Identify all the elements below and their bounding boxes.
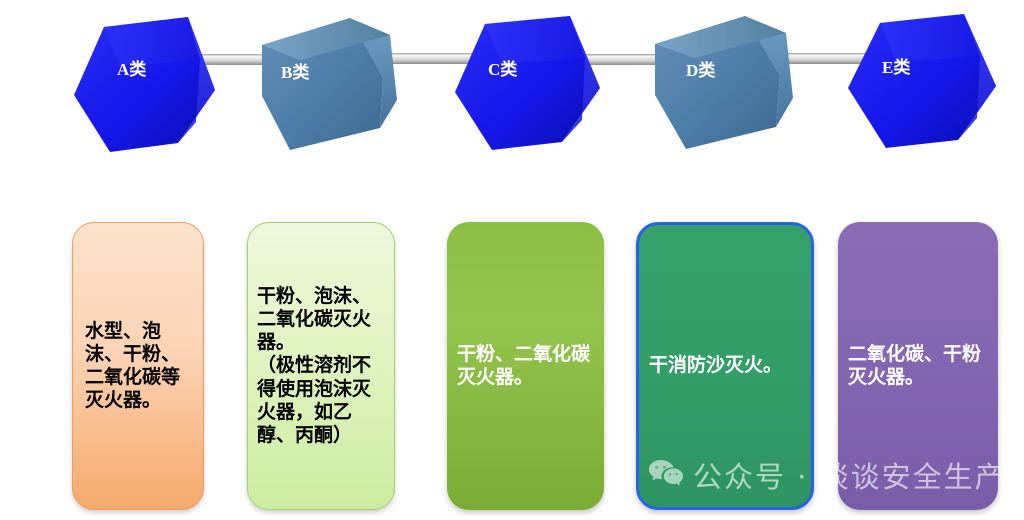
cube-d-label: D类 — [686, 60, 716, 80]
cube-b-label: B类 — [281, 62, 310, 82]
extinguisher-card-b: 干粉、泡沫、二氧化碳灭火器。 （极性溶剂不得使用泡沫灭火器，如乙醇、丙酮） — [247, 222, 395, 510]
extinguisher-card-d: 干消防沙灭火。 — [636, 222, 814, 510]
extinguisher-card-a: 水型、泡沫、干粉、二氧化碳等灭火器。 — [72, 222, 204, 510]
cube-a-label: A类 — [117, 59, 147, 79]
extinguisher-card-c-text: 干粉、二氧化碳灭火器。 — [447, 343, 604, 389]
extinguisher-card-row: 水型、泡沫、干粉、二氧化碳等灭火器。 干粉、泡沫、二氧化碳灭火器。 （极性溶剂不… — [0, 214, 1024, 514]
extinguisher-card-d-text: 干消防沙灭火。 — [639, 354, 811, 377]
cube-b: B类 — [262, 18, 397, 150]
cube-c: C类 — [455, 16, 600, 150]
extinguisher-card-b-text: 干粉、泡沫、二氧化碳灭火器。 （极性溶剂不得使用泡沫灭火器，如乙醇、丙酮） — [248, 285, 394, 447]
cube-c-label: C类 — [488, 59, 518, 79]
cube-d: D类 — [655, 16, 793, 149]
extinguisher-card-a-text: 水型、泡沫、干粉、二氧化碳等灭火器。 — [73, 320, 203, 413]
extinguisher-card-e: 二氧化碳、干粉灭火器。 — [838, 222, 998, 510]
category-cube-chain: A类 B类 C类 D类 E类 — [0, 0, 1024, 180]
extinguisher-card-c: 干粉、二氧化碳灭火器。 — [447, 222, 604, 510]
cube-a: A类 — [74, 17, 215, 152]
cube-e: E类 — [848, 14, 996, 148]
extinguisher-card-e-text: 二氧化碳、干粉灭火器。 — [838, 343, 998, 389]
cube-e-label: E类 — [882, 57, 911, 77]
